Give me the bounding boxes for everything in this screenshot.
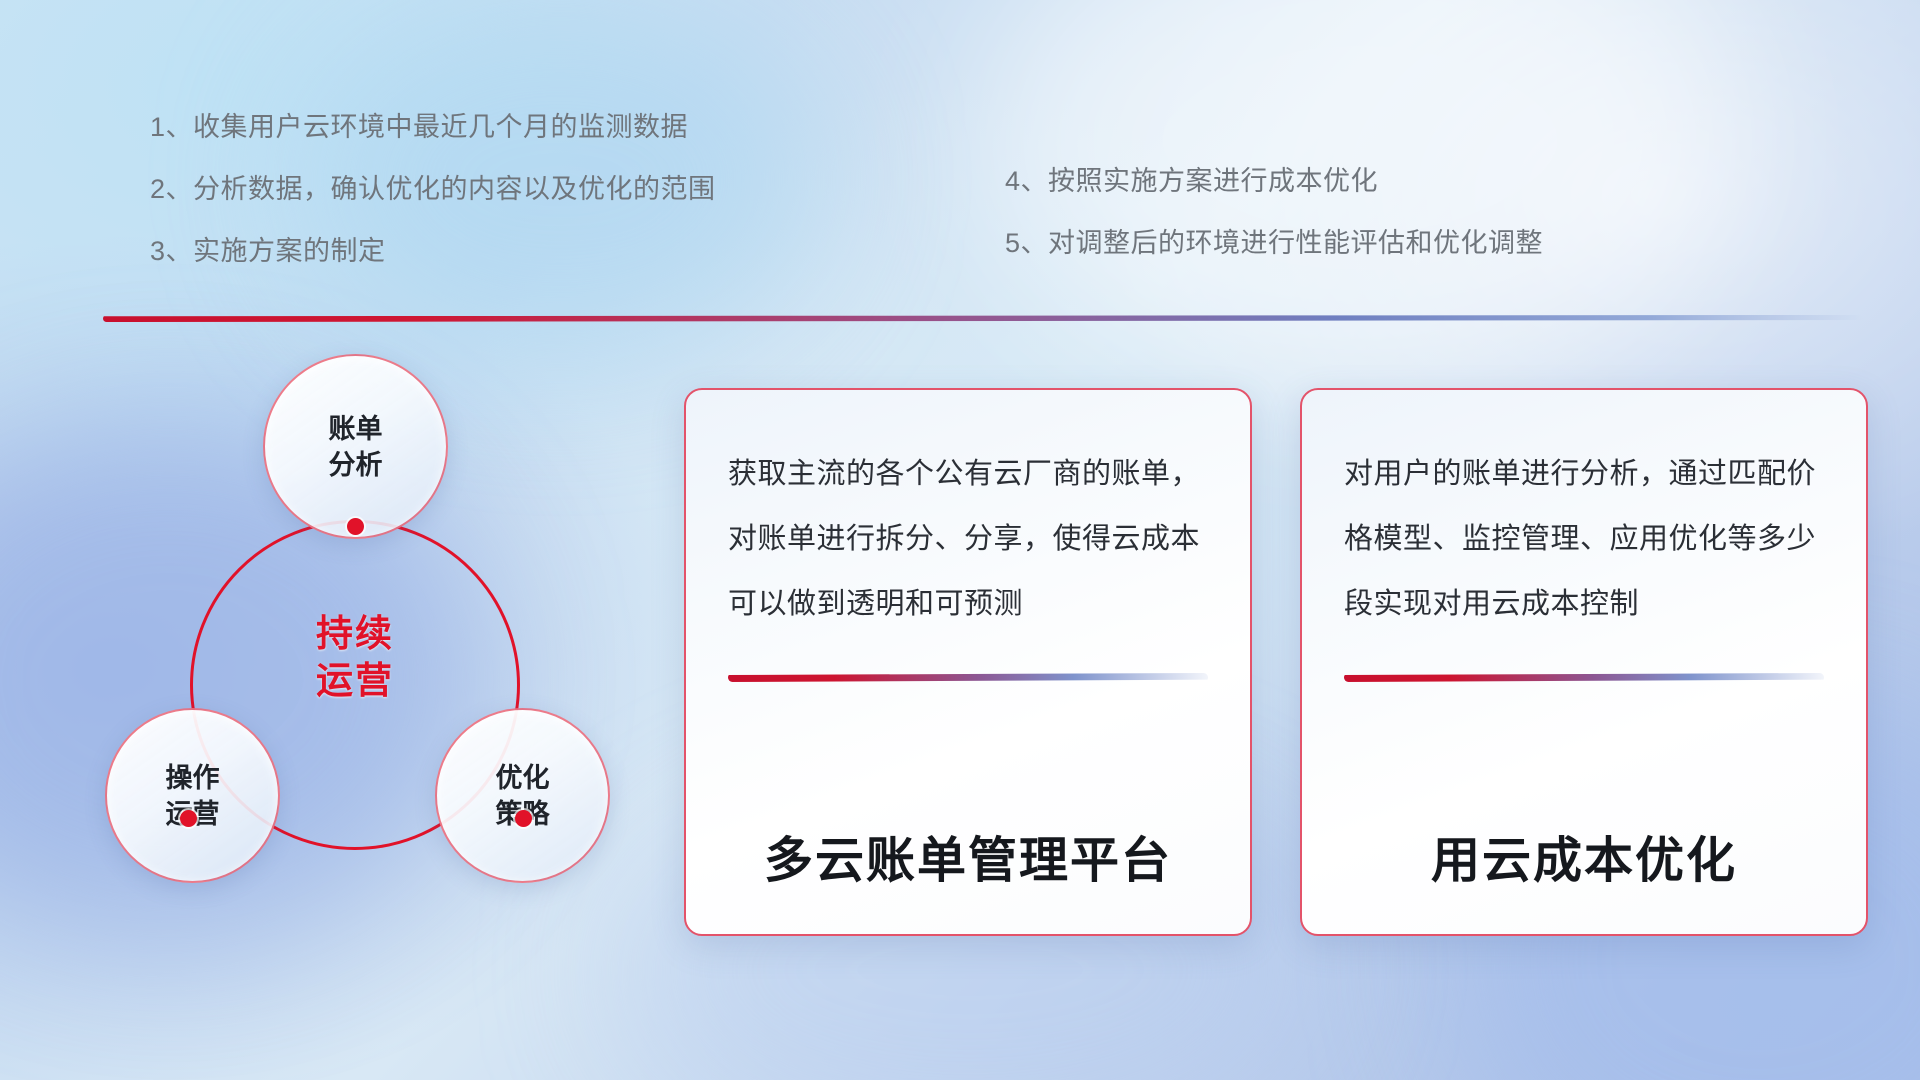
diagram-node-dot-top — [347, 518, 364, 535]
bubble-label-line1: 优化 — [496, 760, 550, 796]
card-multi-cloud-bill-platform[interactable]: 获取主流的各个公有云厂商的账单，对账单进行拆分、分享，使得云成本可以做到透明和可… — [684, 388, 1252, 936]
steps-list-right: 4、按照实施方案进行成本优化 5、对调整后的环境进行性能评估和优化调整 — [1005, 150, 1543, 274]
card-title: 多云账单管理平台 — [728, 821, 1208, 904]
step-item-4: 4、按照实施方案进行成本优化 — [1005, 150, 1543, 212]
step-item-3: 3、实施方案的制定 — [150, 220, 716, 282]
bubble-label-line1: 账单 — [329, 411, 383, 447]
diagram-bubble-optimization-strategy[interactable]: 优化 策略 — [435, 708, 610, 883]
center-label-line1: 持续 — [280, 610, 430, 657]
bubble-label-line1: 操作 — [166, 760, 220, 796]
bubble-label-line2: 分析 — [329, 447, 383, 483]
diagram-bubble-operation[interactable]: 操作 运营 — [105, 708, 280, 883]
card-cloud-cost-optimization[interactable]: 对用户的账单进行分析，通过匹配价格模型、监控管理、应用优化等多少段实现对用云成本… — [1300, 388, 1868, 936]
steps-list-left: 1、收集用户云环境中最近几个月的监测数据 2、分析数据，确认优化的内容以及优化的… — [150, 96, 716, 282]
step-item-2: 2、分析数据，确认优化的内容以及优化的范围 — [150, 158, 716, 220]
card-accent-rule — [728, 673, 1208, 682]
center-label-line2: 运营 — [280, 657, 430, 704]
diagram-node-dot-left — [180, 810, 197, 827]
diagram-bubble-bill-analysis[interactable]: 账单 分析 — [263, 354, 448, 539]
step-item-5: 5、对调整后的环境进行性能评估和优化调整 — [1005, 212, 1543, 274]
continuous-operation-diagram: 账单 分析 操作 运营 优化 策略 持续 运营 — [95, 340, 655, 940]
card-title: 用云成本优化 — [1344, 821, 1824, 904]
card-body-text: 获取主流的各个公有云厂商的账单，对账单进行拆分、分享，使得云成本可以做到透明和可… — [728, 442, 1208, 637]
step-item-1: 1、收集用户云环境中最近几个月的监测数据 — [150, 96, 716, 158]
card-accent-rule — [1344, 673, 1824, 682]
section-divider — [103, 315, 1863, 322]
diagram-center-label: 持续 运营 — [280, 610, 430, 704]
diagram-node-dot-right — [515, 810, 532, 827]
card-body-text: 对用户的账单进行分析，通过匹配价格模型、监控管理、应用优化等多少段实现对用云成本… — [1344, 442, 1824, 637]
slide-canvas: 1、收集用户云环境中最近几个月的监测数据 2、分析数据，确认优化的内容以及优化的… — [0, 0, 1920, 1080]
